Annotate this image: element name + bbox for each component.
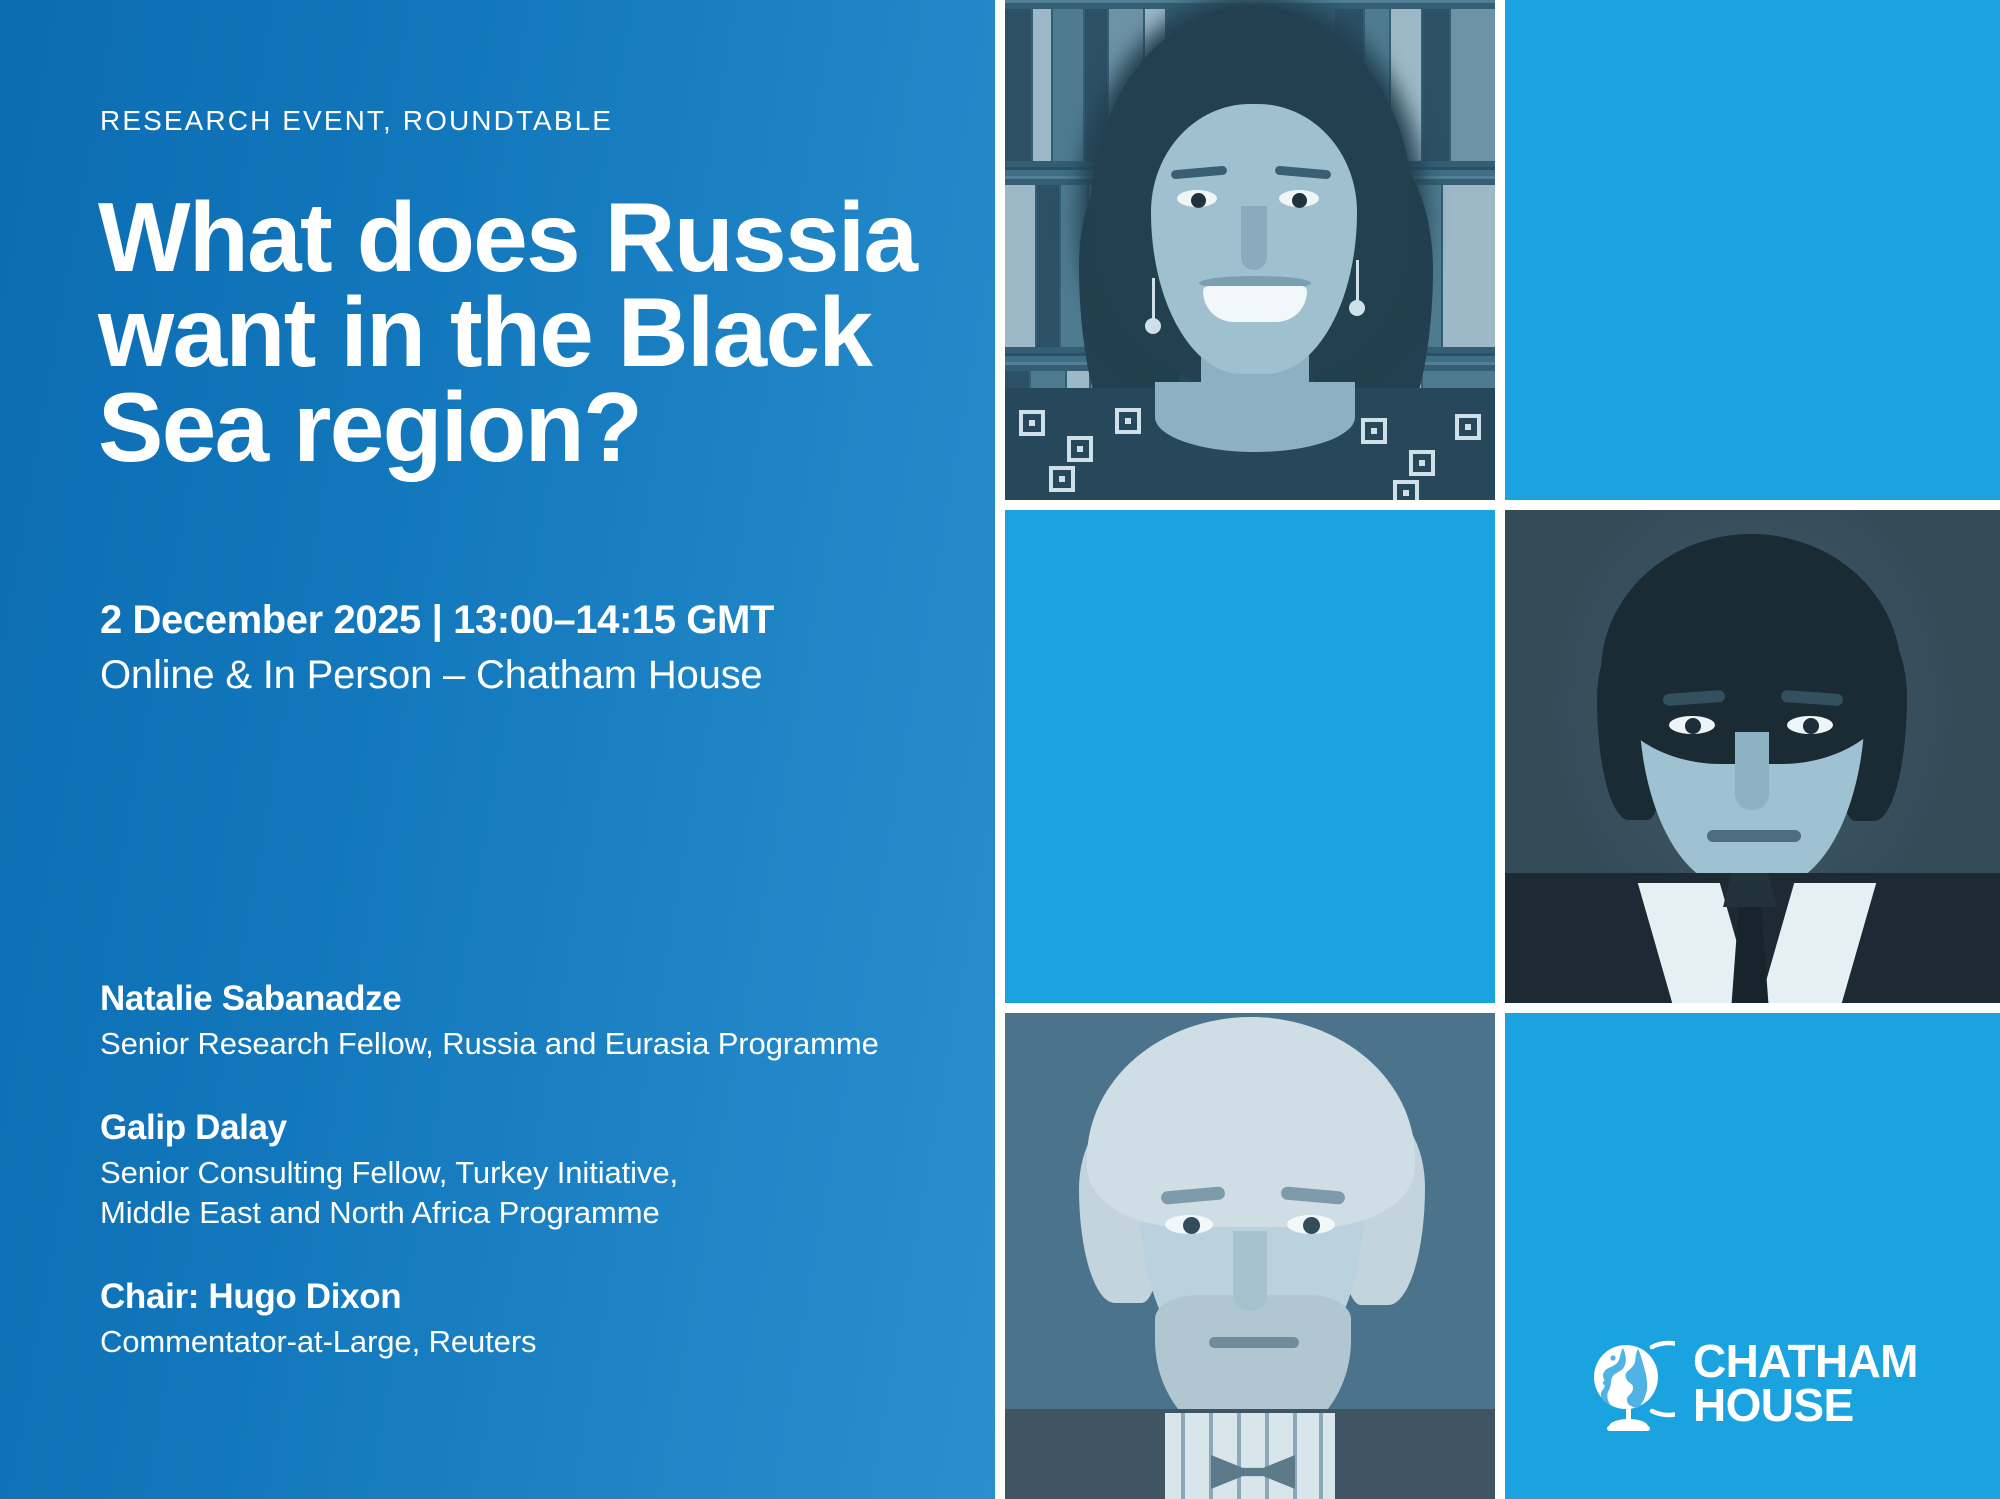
accent-block-middle-left <box>1005 510 1495 1003</box>
nose <box>1241 206 1267 270</box>
chatham-house-logo: CHATHAM HOUSE <box>1583 1333 1918 1433</box>
speaker-role-line: Senior Consulting Fellow, Turkey Initiat… <box>100 1153 960 1193</box>
event-format-location: Online & In Person – Chatham House <box>100 653 762 698</box>
speaker-role-line: Middle East and North Africa Programme <box>100 1193 960 1233</box>
logo-wordmark-line2: HOUSE <box>1693 1383 1918 1427</box>
patterned-blouse <box>1005 388 1495 500</box>
event-datetime: 2 December 2025 | 13:00–14:15 GMT <box>100 598 774 643</box>
logo-wordmark-line1: CHATHAM <box>1693 1339 1918 1383</box>
speaker-item: Natalie Sabanadze Senior Research Fellow… <box>100 978 960 1063</box>
striped-shirt <box>1165 1413 1335 1499</box>
pupil-right <box>1292 193 1307 208</box>
portrait-photo <box>1505 510 2000 1003</box>
nose <box>1735 732 1769 810</box>
portrait-photo <box>1005 0 1495 500</box>
logo-wordmark: CHATHAM HOUSE <box>1693 1339 1918 1427</box>
earring-right <box>1349 300 1365 316</box>
chair-role-line: Commentator-at-Large, Reuters <box>100 1322 960 1362</box>
event-info-panel: RESEARCH EVENT, ROUNDTABLE What does Rus… <box>0 0 995 1499</box>
logo-block: CHATHAM HOUSE <box>1505 1013 2000 1499</box>
speaker-list: Natalie Sabanadze Senior Research Fellow… <box>100 978 960 1362</box>
earring-left <box>1145 318 1161 334</box>
globe-faces-icon <box>1583 1333 1675 1433</box>
event-promo-card: RESEARCH EVENT, ROUNDTABLE What does Rus… <box>0 0 2000 1499</box>
hair <box>1087 1017 1415 1227</box>
pupil-left <box>1191 193 1206 208</box>
speaker-name: Natalie Sabanadze <box>100 978 960 1021</box>
pupil-left <box>1183 1217 1200 1234</box>
smile-teeth <box>1203 286 1307 322</box>
pupil-right <box>1303 1217 1320 1234</box>
event-title: What does Russia want in the Black Sea r… <box>98 190 928 475</box>
speaker-item: Galip Dalay Senior Consulting Fellow, Tu… <box>100 1107 960 1232</box>
portrait-tile-galip-dalay <box>1505 510 2000 1003</box>
earring-wire-right <box>1356 260 1359 302</box>
portrait-tile-hugo-dixon <box>1005 1013 1495 1499</box>
speaker-name: Galip Dalay <box>100 1107 960 1150</box>
portrait-tile-natalie-sabanadze <box>1005 0 1495 500</box>
speaker-role-line: Senior Research Fellow, Russia and Euras… <box>100 1024 960 1064</box>
chair-name: Chair: Hugo Dixon <box>100 1276 960 1319</box>
accent-block-top-right <box>1505 0 2000 500</box>
speaker-item: Chair: Hugo Dixon Commentator-at-Large, … <box>100 1276 960 1361</box>
mouth <box>1209 1337 1299 1348</box>
necktie-knot <box>1723 873 1777 907</box>
portrait-tile-grid: CHATHAM HOUSE <box>995 0 2000 1499</box>
earring-wire-left <box>1152 278 1155 320</box>
mouth <box>1707 830 1801 842</box>
pupil-right <box>1803 718 1819 734</box>
event-type-eyebrow: RESEARCH EVENT, ROUNDTABLE <box>100 104 613 138</box>
portrait-photo <box>1005 1013 1495 1499</box>
nose <box>1233 1231 1267 1311</box>
pupil-left <box>1685 718 1701 734</box>
